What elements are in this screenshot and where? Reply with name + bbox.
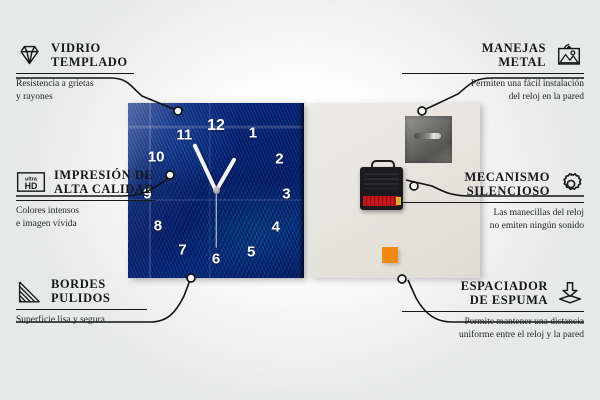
mechanism-handle bbox=[371, 160, 395, 171]
callout-desc-line1: Permiten una fácil instalación bbox=[394, 78, 584, 90]
callout-title-line1: BORDES bbox=[51, 277, 110, 291]
callout-title-line2: METAL bbox=[482, 55, 546, 69]
callout-title-line1: MANEJAS bbox=[482, 41, 546, 55]
clock-numeral-10: 10 bbox=[148, 150, 165, 165]
polished-edge-icon bbox=[16, 279, 43, 303]
callout-title-line1: VIDRIO bbox=[51, 41, 128, 55]
callout-desc-line2: del reloj en la pared bbox=[394, 91, 584, 103]
callout-title-line2: PULIDOS bbox=[51, 291, 110, 305]
callout-mecanismo-silencioso: MECANISMO SILENCIOSO Las manecillas del … bbox=[394, 170, 584, 232]
svg-text:HD: HD bbox=[25, 181, 38, 191]
ultra-hd-icon: ultra HD bbox=[16, 170, 46, 194]
callout-divider bbox=[402, 311, 584, 312]
callout-divider bbox=[16, 309, 147, 310]
callout-title-line2: DE ESPUMA bbox=[461, 293, 548, 307]
clock-right-edge-shadow bbox=[299, 103, 304, 278]
callout-desc-line2: y rayones bbox=[16, 91, 206, 103]
clock-numeral-1: 1 bbox=[249, 125, 257, 140]
picture-hanger-icon bbox=[554, 43, 584, 67]
clock-numeral-11: 11 bbox=[176, 127, 192, 142]
callout-desc-line1: Colores intensos bbox=[16, 205, 206, 217]
callout-espaciador-de-espuma: ESPACIADOR DE ESPUMA Permite mantener un… bbox=[394, 279, 584, 341]
callout-desc-line2: e imagen vívida bbox=[16, 218, 206, 230]
clock-numeral-3: 3 bbox=[282, 187, 290, 202]
callout-title-line2: TEMPLADO bbox=[51, 55, 128, 69]
callout-title-line2: SILENCIOSO bbox=[464, 184, 550, 198]
clock-second-hand bbox=[215, 191, 216, 248]
callout-title-line1: IMPRESIÓN DE bbox=[54, 168, 154, 182]
clock-numeral-2: 2 bbox=[275, 152, 283, 167]
metal-hanger-plate bbox=[405, 116, 452, 163]
foam-spacer-icon bbox=[556, 281, 584, 305]
callout-title-line1: MECANISMO bbox=[464, 170, 550, 184]
diamond-icon bbox=[16, 43, 43, 67]
clock-center-pin bbox=[213, 187, 220, 194]
clock-numeral-7: 7 bbox=[178, 243, 186, 258]
callout-impresion-alta-calidad: ultra HD IMPRESIÓN DE ALTA CALIDAD Color… bbox=[16, 168, 206, 230]
clock-numeral-4: 4 bbox=[272, 220, 280, 235]
callout-desc-line1: Permite mantener una distancia bbox=[394, 316, 584, 328]
clock-numeral-6: 6 bbox=[212, 251, 220, 266]
callout-vidrio-templado: VIDRIO TEMPLADO Resistencia a grietas y … bbox=[16, 41, 206, 103]
callout-desc-line1: Las manecillas del reloj bbox=[394, 207, 584, 219]
foam-spacer bbox=[382, 247, 398, 263]
callout-desc-line2: no emiten ningún sonido bbox=[394, 220, 584, 232]
hanger-slot bbox=[414, 133, 441, 139]
callout-divider bbox=[16, 200, 155, 201]
callout-title-line1: ESPACIADOR bbox=[461, 279, 548, 293]
clock-numeral-5: 5 bbox=[247, 244, 255, 259]
clock-numeral-12: 12 bbox=[207, 118, 225, 134]
callout-desc-line1: Superficie lisa y segura bbox=[16, 314, 206, 326]
callout-manejas-metal: MANEJAS METAL Permiten una fácil instala… bbox=[394, 41, 584, 103]
callout-divider bbox=[402, 73, 584, 74]
battery-label bbox=[363, 196, 398, 206]
callout-desc-line1: Resistencia a grietas bbox=[16, 78, 206, 90]
callout-bordes-pulidos: BORDES PULIDOS Superficie lisa y segura bbox=[16, 277, 206, 327]
infographic-canvas: 12 1 2 3 4 5 6 7 8 9 10 11 bbox=[0, 0, 600, 400]
callout-desc-line2: uniforme entre el reloj y la pared bbox=[394, 329, 584, 341]
callout-divider bbox=[16, 73, 134, 74]
callout-divider bbox=[402, 202, 584, 203]
gear-icon bbox=[558, 172, 584, 196]
callout-title-line2: ALTA CALIDAD bbox=[54, 182, 154, 196]
